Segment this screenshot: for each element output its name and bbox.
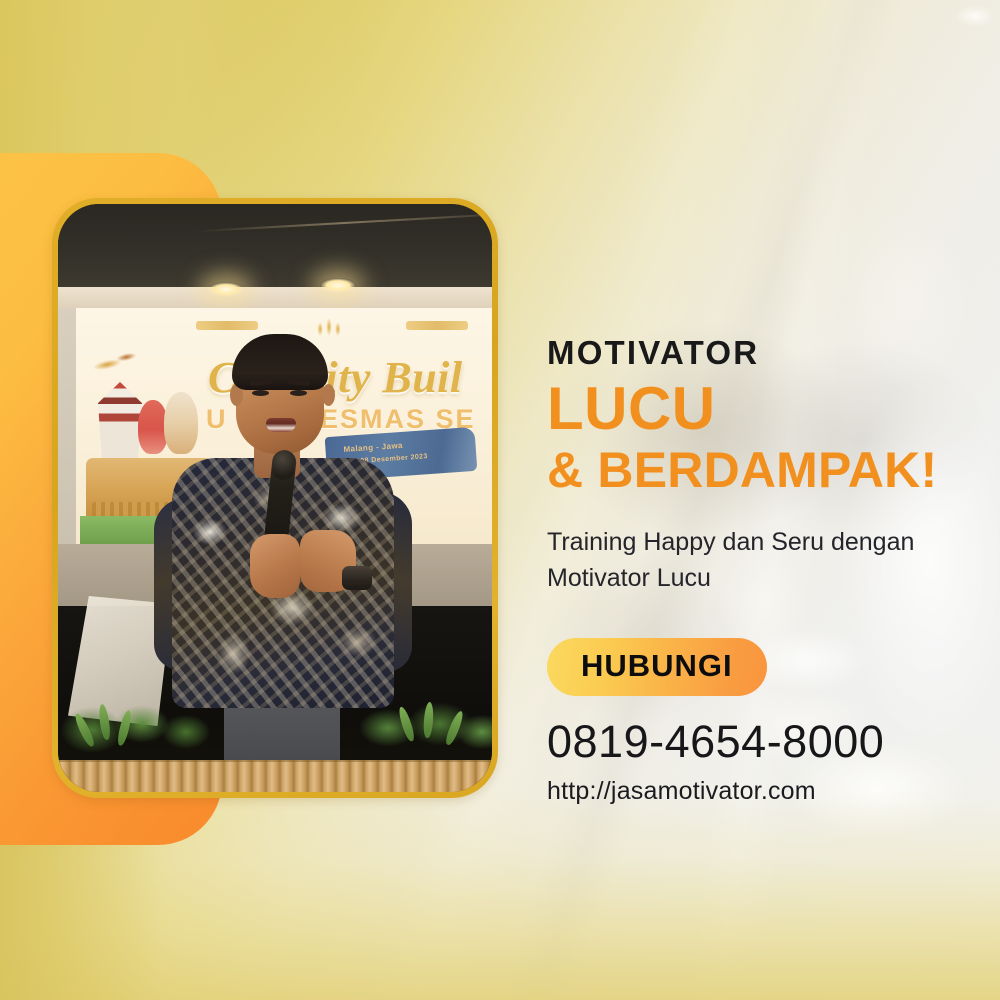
banner-flag-icon xyxy=(88,342,148,379)
photo-bamboo-fence xyxy=(58,760,492,792)
headline-line-1: LUCU xyxy=(547,377,977,442)
speaker-eye xyxy=(290,390,307,396)
speaker-hair xyxy=(232,334,328,390)
banner-ornament xyxy=(406,321,468,330)
photo-soffit xyxy=(58,287,492,309)
contact-cta-button[interactable]: HUBUNGI xyxy=(547,638,767,696)
ceiling-light-icon xyxy=(320,278,356,293)
headline-line-2: & BERDAMPAK! xyxy=(547,443,977,497)
promo-subtitle: Training Happy dan Seru dengan Motivator… xyxy=(547,525,967,596)
speaker-mouth xyxy=(266,418,296,432)
website-url[interactable]: http://jasamotivator.com xyxy=(547,777,977,806)
speaker-ear xyxy=(322,384,335,406)
speaker-photo: Capacity Buil U PUSKESMAS SE Malang - Ja… xyxy=(58,204,492,792)
speaker-wristwatch xyxy=(342,566,372,590)
photo-ceiling xyxy=(58,204,492,287)
promo-text-column: MOTIVATOR LUCU & BERDAMPAK! Training Hap… xyxy=(547,336,977,806)
phone-number[interactable]: 0819-4654-8000 xyxy=(547,718,977,767)
ceiling-light-icon xyxy=(208,282,244,297)
headline-kicker: MOTIVATOR xyxy=(547,336,977,371)
speaker-photo-card: Capacity Buil U PUSKESMAS SE Malang - Ja… xyxy=(52,198,498,798)
poster-canvas: Capacity Buil U PUSKESMAS SE Malang - Ja… xyxy=(0,0,1000,1000)
speaker-left-hand xyxy=(250,534,300,598)
speaker-eye xyxy=(252,390,269,396)
